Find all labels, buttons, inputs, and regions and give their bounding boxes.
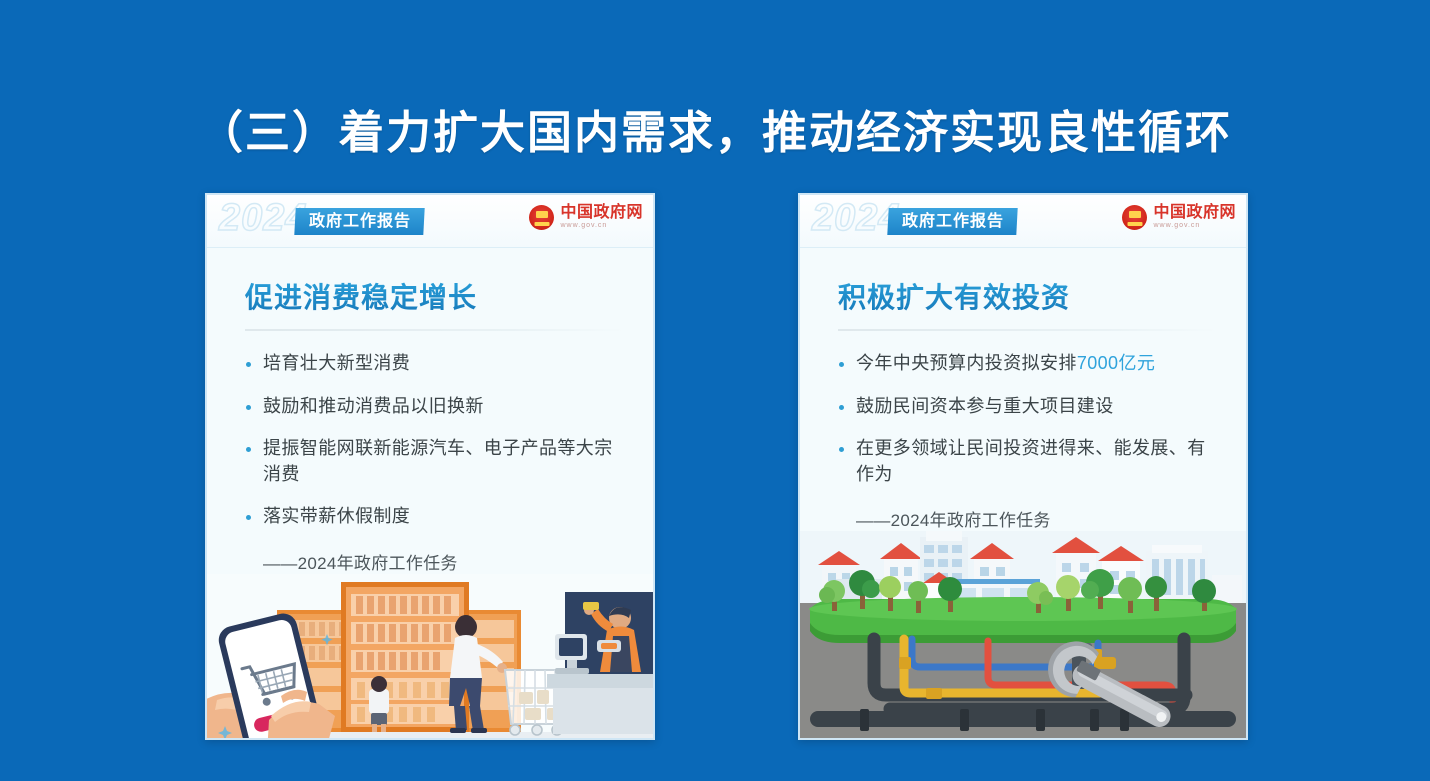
list-item-text: 鼓励民间资本参与重大项目建设 [856,396,1114,416]
list-item-text: 鼓励和推动消费品以旧换新 [263,396,484,416]
city-underground-pipes-illustration [800,531,1246,740]
retail-shopping-illustration [207,574,653,740]
card-investment: 2024 政府工作报告 中国政府网 www.gov.cn 积极扩大有效投资 今年… [798,193,1248,740]
gov-logo-name: 中国政府网 [560,205,643,222]
list-item: 鼓励民间资本参与重大项目建设 [838,394,1218,420]
report-badge: 政府工作报告 [887,208,1017,235]
list-item: 今年中央预算内投资拟安排7000亿元 [838,351,1218,377]
card-title: 促进消费稳定增长 [245,276,625,316]
bullet-list: 今年中央预算内投资拟安排7000亿元 鼓励民间资本参与重大项目建设 在更多领域让… [838,351,1218,504]
list-item-highlight: 7000亿元 [1077,353,1155,373]
gov-logo-text: 中国政府网 www.gov.cn [560,205,643,229]
list-item: 落实带薪休假制度 [245,504,625,530]
page-title: （三）着力扩大国内需求，推动经济实现良性循环 [0,96,1430,161]
list-item-text: 在更多领域让民间投资进得来、能发展、有作为 [856,438,1206,484]
card-body: 积极扩大有效投资 今年中央预算内投资拟安排7000亿元 鼓励民间资本参与重大项目… [800,248,1246,740]
source-note: ——2024年政府工作任务 [263,549,625,574]
card-consumption: 2024 政府工作报告 中国政府网 www.gov.cn 促进消费稳定增长 培育… [205,193,655,740]
list-item-text: 今年中央预算内投资拟安排 [856,353,1077,373]
gov-logo-name: 中国政府网 [1153,205,1236,222]
card-header: 2024 政府工作报告 中国政府网 www.gov.cn [800,195,1246,248]
title-divider [838,329,1218,331]
list-item: 鼓励和推动消费品以旧换新 [245,394,625,420]
card-title: 积极扩大有效投资 [838,276,1218,316]
report-badge: 政府工作报告 [294,208,424,235]
gov-logo-url: www.gov.cn [1153,222,1236,229]
slide: （三）着力扩大国内需求，推动经济实现良性循环 2024 政府工作报告 中国政府网… [0,0,1430,781]
national-emblem-icon [1122,205,1147,230]
national-emblem-icon [529,205,554,230]
retail-shopping-svg [207,574,653,740]
list-item-text: 提振智能网联新能源汽车、电子产品等大宗消费 [263,438,613,484]
gov-logo: 中国政府网 www.gov.cn [1122,205,1236,230]
card-body: 促进消费稳定增长 培育壮大新型消费 鼓励和推动消费品以旧换新 提振智能网联新能源… [207,248,653,740]
gov-logo-text: 中国政府网 www.gov.cn [1153,205,1236,229]
list-item-text: 落实带薪休假制度 [263,506,410,526]
source-note: ——2024年政府工作任务 [856,506,1218,531]
report-badge-label: 政府工作报告 [309,208,411,235]
bullet-list: 培育壮大新型消费 鼓励和推动消费品以旧换新 提振智能网联新能源汽车、电子产品等大… [245,351,625,547]
list-item-text: 培育壮大新型消费 [263,353,410,373]
list-item: 培育壮大新型消费 [245,351,625,377]
card-header: 2024 政府工作报告 中国政府网 www.gov.cn [207,195,653,248]
gov-logo: 中国政府网 www.gov.cn [529,205,643,230]
report-badge-label: 政府工作报告 [902,208,1004,235]
gov-logo-url: www.gov.cn [560,222,643,229]
title-divider [245,329,625,331]
list-item: 在更多领域让民间投资进得来、能发展、有作为 [838,436,1218,487]
city-underground-pipes-svg [800,531,1246,740]
list-item: 提振智能网联新能源汽车、电子产品等大宗消费 [245,436,625,487]
